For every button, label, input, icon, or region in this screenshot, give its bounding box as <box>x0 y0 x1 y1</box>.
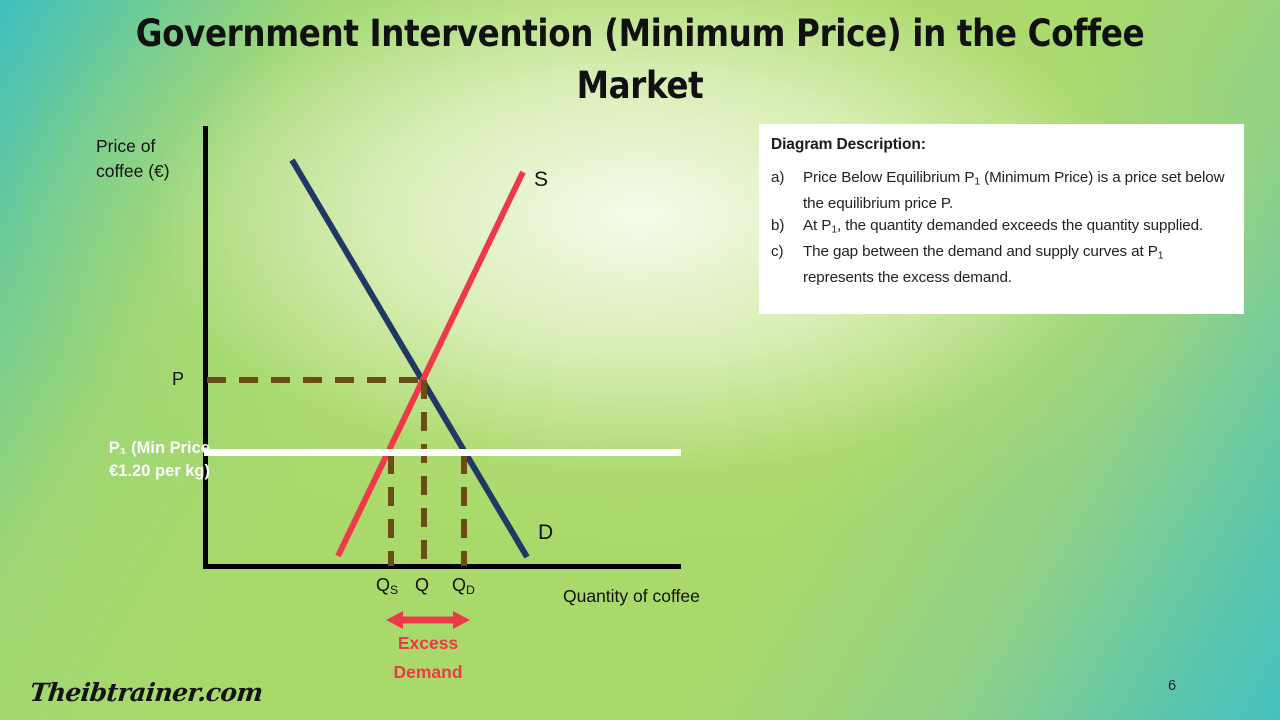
x-axis-label: Quantity of coffee <box>563 586 700 607</box>
excess-demand-label-line1: Excess <box>398 633 458 653</box>
slide-canvas: Government Intervention (Minimum Price) … <box>0 0 1280 720</box>
demand-curve-label: D <box>538 521 553 545</box>
minimum-price-label-line2: €1.20 per kg) <box>109 462 210 480</box>
quantity-demanded-label-base: Q <box>452 575 466 595</box>
minimum-price-label-line1: P₁ (Min Price <box>109 439 210 457</box>
y-axis-label-line2: coffee (€) <box>96 161 170 181</box>
excess-demand-double-arrow <box>386 611 470 629</box>
quantity-demanded-label: QD <box>452 575 475 597</box>
excess-demand-label: Excess Demand <box>366 629 490 687</box>
quantity-supplied-label-base: Q <box>376 575 390 595</box>
quantity-demanded-label-sub: D <box>466 583 475 597</box>
equilibrium-price-label: P <box>172 369 184 390</box>
y-axis-label-line1: Price of <box>96 136 155 156</box>
page-number: 6 <box>1168 678 1176 694</box>
excess-demand-label-line2: Demand <box>393 662 462 682</box>
quantity-supplied-label-sub: S <box>390 583 398 597</box>
demand-curve <box>292 160 527 557</box>
watermark-logo: Theibtrainer.com <box>28 678 264 707</box>
supply-curve-label: S <box>534 168 548 192</box>
minimum-price-label: P₁ (Min Price €1.20 per kg) <box>50 437 210 483</box>
supply-demand-chart <box>0 0 1280 720</box>
equilibrium-quantity-label: Q <box>415 575 429 596</box>
quantity-supplied-label: QS <box>376 575 398 597</box>
y-axis-label: Price of coffee (€) <box>96 134 200 184</box>
